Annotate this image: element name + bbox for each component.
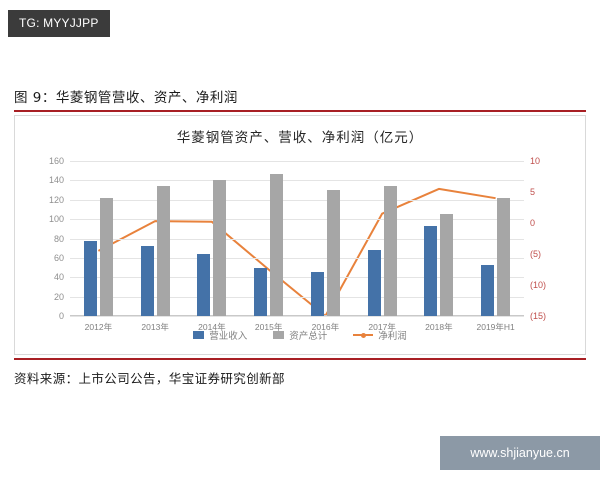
- legend-item-revenue: 营业收入: [193, 328, 247, 342]
- y-axis-tick-left: 0: [59, 311, 64, 321]
- bar-asset: [157, 186, 170, 316]
- gridline: [70, 258, 524, 259]
- tg-badge: TG: MYYJJPP: [8, 10, 110, 37]
- gridline: [70, 277, 524, 278]
- y-axis-tick-right: (10): [530, 280, 546, 290]
- legend-label-revenue: 营业收入: [209, 328, 247, 342]
- y-axis-tick-right: 0: [530, 218, 535, 228]
- gridline: [70, 297, 524, 298]
- gridline: [70, 161, 524, 162]
- y-axis-tick-left: 100: [49, 214, 64, 224]
- bar-asset: [440, 214, 453, 316]
- legend-swatch-profit: [353, 334, 373, 336]
- y-axis-tick-left: 60: [54, 253, 64, 263]
- y-axis-tick-right: 5: [530, 187, 535, 197]
- gridline: [70, 219, 524, 220]
- chart-panel: 华菱钢管资产、营收、净利润（亿元） 0204060801001201401601…: [14, 115, 586, 355]
- watermark: www.shjianyue.cn: [440, 436, 600, 470]
- y-axis-tick-left: 140: [49, 175, 64, 185]
- bar-revenue: [254, 268, 267, 316]
- title-divider-top: [14, 110, 586, 112]
- y-axis-tick-right: 10: [530, 156, 540, 166]
- y-axis-tick-left: 160: [49, 156, 64, 166]
- bar-revenue: [424, 226, 437, 316]
- bar-revenue: [311, 272, 324, 316]
- legend-swatch-asset: [273, 331, 284, 339]
- legend-item-profit: 净利润: [353, 328, 407, 342]
- bar-revenue: [368, 250, 381, 316]
- bar-asset: [100, 198, 113, 316]
- bar-revenue: [84, 241, 97, 316]
- source-divider-bottom: [14, 358, 586, 360]
- bar-asset: [497, 198, 510, 316]
- gridline: [70, 180, 524, 181]
- legend-item-asset: 资产总计: [273, 328, 327, 342]
- chart-legend: 营业收入 资产总计 净利润: [15, 328, 585, 342]
- y-axis-tick-right: (5): [530, 249, 541, 259]
- y-axis-tick-right: (15): [530, 311, 546, 321]
- bar-asset: [384, 186, 397, 316]
- gridline: [70, 239, 524, 240]
- legend-label-asset: 资产总计: [289, 328, 327, 342]
- y-axis-tick-left: 120: [49, 195, 64, 205]
- y-axis-tick-left: 20: [54, 292, 64, 302]
- legend-label-profit: 净利润: [378, 328, 407, 342]
- legend-swatch-revenue: [193, 331, 204, 339]
- bar-asset: [213, 180, 226, 316]
- chart-title: 华菱钢管资产、营收、净利润（亿元）: [15, 126, 585, 146]
- source-note: 资料来源：上市公司公告，华宝证券研究创新部: [14, 368, 285, 387]
- bar-asset: [327, 190, 340, 316]
- plot-area: 0204060801001201401601050(5)(10)(15)2012…: [70, 161, 524, 316]
- y-axis-tick-left: 80: [54, 234, 64, 244]
- bar-revenue: [141, 246, 154, 316]
- bar-revenue: [197, 254, 210, 316]
- y-axis-tick-left: 40: [54, 272, 64, 282]
- gridline: [70, 200, 524, 201]
- bar-revenue: [481, 265, 494, 316]
- figure-title: 图 9：华菱钢管营收、资产、净利润: [14, 86, 238, 106]
- gridline: [70, 316, 524, 317]
- bar-asset: [270, 174, 283, 316]
